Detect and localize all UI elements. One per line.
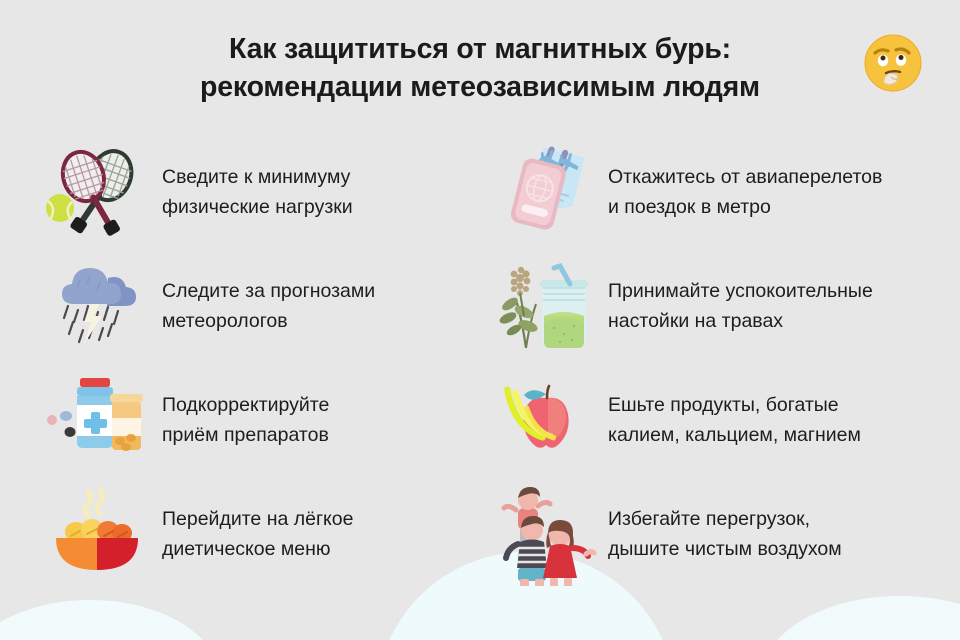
tip-item-watch-weather-forecast: Следите за прогнозами метеорологов [0, 249, 480, 363]
page-title-line-2: рекомендации метеозависимым людям [0, 68, 960, 106]
tip-item-herbal-sedatives: Принимайте успокоительные настойки на тр… [480, 249, 960, 363]
tip-row: Подкорректируйте приём препаратов [0, 363, 960, 477]
tip-line-1: Ешьте продукты, богатые [608, 390, 861, 420]
tip-row: Перейдите на лёгкое диетическое меню [0, 477, 960, 591]
tip-item-light-diet-menu: Перейдите на лёгкое диетическое меню [0, 477, 480, 591]
tip-line-1: Принимайте успокоительные [608, 276, 873, 306]
tip-item-minimize-physical-activity: Сведите к минимуму физические нагрузки [0, 135, 480, 249]
tip-text: Сведите к минимуму физические нагрузки [154, 162, 353, 222]
tip-line-1: Следите за прогнозами [162, 276, 375, 306]
tip-row: Сведите к минимуму физические нагрузки [0, 135, 960, 249]
passport-boarding-pass-icon [490, 140, 600, 244]
tip-line-2: и поездок в метро [608, 192, 882, 222]
tip-text: Принимайте успокоительные настойки на тр… [600, 276, 873, 336]
tip-item-avoid-flights-metro: Откажитесь от авиаперелетов и поездок в … [480, 135, 960, 249]
tip-text: Подкорректируйте приём препаратов [154, 390, 329, 450]
children-playing-icon [490, 482, 600, 586]
tip-text: Откажитесь от авиаперелетов и поездок в … [600, 162, 882, 222]
tip-row: Следите за прогнозами метеорологов [0, 249, 960, 363]
tip-line-1: Откажитесь от авиаперелетов [608, 162, 882, 192]
rain-cloud-icon [44, 254, 154, 358]
tip-line-2: настойки на травах [608, 306, 873, 336]
tip-line-1: Избегайте перегрузок, [608, 504, 842, 534]
tip-item-avoid-overload-breathe-fresh-air: Избегайте перегрузок, дышите чистым возд… [480, 477, 960, 591]
tips-grid: Сведите к минимуму физические нагрузки [0, 135, 960, 591]
tip-line-2: дышите чистым воздухом [608, 534, 842, 564]
tip-item-eat-potassium-rich-food: Ешьте продукты, богатые калием, кальцием… [480, 363, 960, 477]
tennis-rackets-icon [44, 140, 154, 244]
tip-line-2: приём препаратов [162, 420, 329, 450]
tip-line-2: калием, кальцием, магнием [608, 420, 861, 450]
tip-text: Избегайте перегрузок, дышите чистым возд… [600, 504, 842, 564]
page-title: Как защититься от магнитных бурь: рекоме… [0, 30, 960, 106]
tip-line-2: метеорологов [162, 306, 375, 336]
bottom-left-wave-decoration [0, 600, 220, 640]
thinking-face-emoji [862, 32, 924, 94]
infographic-canvas: Как защититься от магнитных бурь: рекоме… [0, 0, 960, 640]
tip-line-1: Перейдите на лёгкое [162, 504, 354, 534]
tip-text: Ешьте продукты, богатые калием, кальцием… [600, 390, 861, 450]
tip-line-2: диетическое меню [162, 534, 354, 564]
bottom-right-wave-decoration [760, 596, 960, 640]
tip-text: Следите за прогнозами метеорологов [154, 276, 375, 336]
tip-line-2: физические нагрузки [162, 192, 353, 222]
tip-line-1: Подкорректируйте [162, 390, 329, 420]
page-title-line-1: Как защититься от магнитных бурь: [0, 30, 960, 68]
tip-line-1: Сведите к минимуму [162, 162, 353, 192]
banana-apple-icon [490, 368, 600, 472]
herbal-drink-icon [490, 254, 600, 358]
tip-item-adjust-medication: Подкорректируйте приём препаратов [0, 363, 480, 477]
tip-text: Перейдите на лёгкое диетическое меню [154, 504, 354, 564]
medicine-bottles-icon [44, 368, 154, 472]
hot-food-bowl-icon [44, 482, 154, 586]
